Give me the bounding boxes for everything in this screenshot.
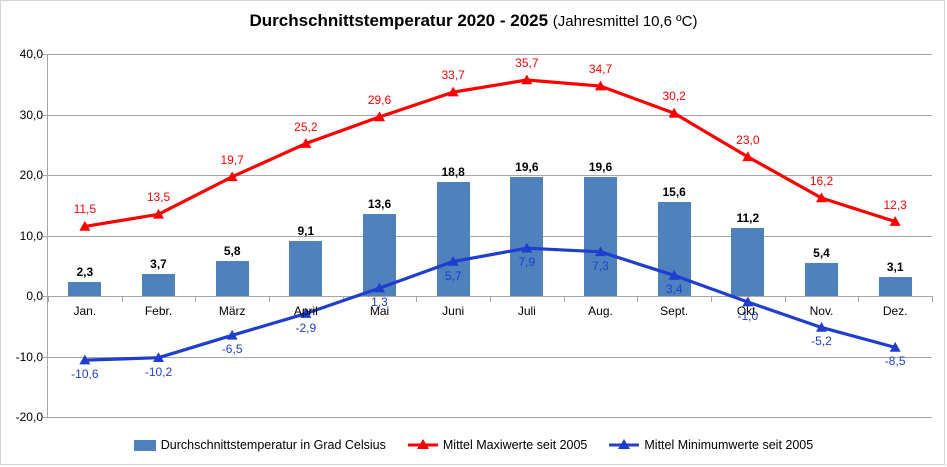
max-value-label: 23,0 — [736, 133, 759, 147]
max-value-label: 11,5 — [74, 202, 96, 216]
x-axis-label: März — [219, 304, 246, 318]
y-axis-tick-label: 20,0 — [1, 168, 43, 182]
x-axis-tick — [564, 296, 565, 302]
min-value-label: 5,7 — [445, 269, 462, 283]
x-axis-label: April — [294, 304, 318, 318]
x-axis-label: Okt. — [737, 304, 759, 318]
chart-title-main: Durchschnittstemperatur 2020 - 2025 — [250, 11, 549, 30]
legend-bar-swatch-icon — [134, 440, 156, 451]
x-axis-tick — [269, 296, 270, 302]
y-axis-tick — [43, 417, 48, 418]
triangle-marker-icon — [374, 111, 385, 121]
bar — [216, 261, 249, 296]
x-axis-tick — [343, 296, 344, 302]
y-axis-tick-label: 30,0 — [1, 108, 43, 122]
min-value-label: 3,4 — [666, 282, 683, 296]
max-value-label: 12,3 — [883, 198, 906, 212]
x-axis-label: Aug. — [588, 304, 613, 318]
bar — [879, 277, 912, 296]
min-value-label: -2,9 — [295, 321, 316, 335]
min-value-label: -6,5 — [222, 342, 243, 356]
x-axis-tick — [490, 296, 491, 302]
x-axis-tick — [932, 296, 933, 302]
triangle-marker-icon — [153, 209, 164, 219]
y-axis-tick — [43, 175, 48, 176]
max-value-label: 34,7 — [589, 62, 612, 76]
bar-value-label: 19,6 — [515, 160, 538, 174]
bar — [142, 274, 175, 296]
max-value-label: 33,7 — [441, 68, 464, 82]
y-axis-tick — [43, 357, 48, 358]
triangle-marker-icon — [890, 342, 901, 352]
y-axis-tick — [43, 115, 48, 116]
plot-area: 40,030,020,010,00,0-10,0-20,0 2,33,75,89… — [48, 54, 932, 417]
max-value-label: 30,2 — [662, 89, 685, 103]
bar-value-label: 19,6 — [589, 160, 612, 174]
bar — [731, 228, 764, 296]
legend-label: Mittel Minimumwerte seit 2005 — [644, 438, 813, 452]
x-axis-label: Juli — [518, 304, 536, 318]
legend-item[interactable]: Mittel Maxiwerte seit 2005 — [408, 438, 588, 452]
max-value-label: 25,2 — [294, 120, 317, 134]
max-value-label: 19,7 — [220, 153, 243, 167]
triangle-marker-icon — [890, 216, 901, 226]
max-value-label: 29,6 — [368, 93, 391, 107]
triangle-marker-icon — [595, 81, 606, 91]
bar-value-label: 15,6 — [662, 185, 685, 199]
gridline — [48, 417, 932, 418]
x-axis-label: Juni — [442, 304, 464, 318]
bar-value-label: 3,7 — [150, 257, 167, 271]
triangle-marker-icon — [300, 138, 311, 148]
gridline — [48, 54, 932, 55]
bar-value-label: 2,3 — [76, 265, 93, 279]
bar-value-label: 5,8 — [224, 244, 241, 258]
gridline — [48, 236, 932, 237]
x-axis-tick — [637, 296, 638, 302]
triangle-marker-icon — [79, 221, 90, 231]
min-value-label: -10,6 — [71, 367, 98, 381]
min-value-label: 7,9 — [518, 255, 535, 269]
legend-label: Durchschnittstemperatur in Grad Celsius — [161, 438, 386, 452]
triangle-marker-icon — [448, 87, 459, 97]
triangle-marker-icon — [227, 330, 238, 340]
x-axis-tick — [48, 296, 49, 302]
bar — [584, 177, 617, 296]
gridline — [48, 175, 932, 176]
triangle-marker-icon — [227, 171, 238, 181]
chart-title-subtitle: (Jahresmittel 10,6 ºC) — [553, 13, 698, 30]
y-axis-tick-label: -10,0 — [1, 350, 43, 364]
chart-legend: Durchschnittstemperatur in Grad CelsiusM… — [1, 438, 946, 452]
bar-value-label: 11,2 — [736, 211, 759, 225]
y-axis-tick-label: 40,0 — [1, 47, 43, 61]
chart-container: Durchschnittstemperatur 2020 - 2025 (Jah… — [0, 0, 945, 465]
bar — [510, 177, 543, 296]
legend-line-marker-icon — [408, 438, 438, 452]
x-axis-tick — [711, 296, 712, 302]
bar — [289, 241, 322, 296]
bar — [68, 282, 101, 296]
bar — [805, 263, 838, 296]
line-path — [85, 248, 895, 360]
y-axis-tick-label: -20,0 — [1, 410, 43, 424]
y-axis-tick-label: 10,0 — [1, 229, 43, 243]
x-axis-tick — [416, 296, 417, 302]
max-value-label: 35,7 — [515, 56, 538, 70]
x-axis-label: Mai — [370, 304, 389, 318]
max-value-label: 13,5 — [147, 190, 170, 204]
bar-value-label: 9,1 — [297, 224, 314, 238]
gridline — [48, 357, 932, 358]
legend-line-marker-icon — [609, 438, 639, 452]
x-axis-tick — [785, 296, 786, 302]
x-axis-tick — [122, 296, 123, 302]
legend-item[interactable]: Mittel Minimumwerte seit 2005 — [609, 438, 813, 452]
triangle-marker-icon — [521, 75, 532, 85]
y-axis-tick — [43, 54, 48, 55]
chart-title: Durchschnittstemperatur 2020 - 2025 (Jah… — [1, 11, 946, 31]
x-axis-label: Nov. — [810, 304, 834, 318]
x-axis-label: Jan. — [73, 304, 96, 318]
min-value-label: 7,3 — [592, 259, 609, 273]
triangle-marker-icon — [816, 192, 827, 202]
bar-value-label: 13,6 — [368, 197, 391, 211]
gridline — [48, 115, 932, 116]
x-axis-tick — [858, 296, 859, 302]
min-value-label: -8,5 — [885, 354, 906, 368]
legend-item[interactable]: Durchschnittstemperatur in Grad Celsius — [134, 438, 386, 452]
x-axis-label: Sept. — [660, 304, 688, 318]
bar — [363, 214, 396, 296]
bar-value-label: 3,1 — [887, 260, 904, 274]
y-axis-tick-label: 0,0 — [1, 289, 43, 303]
line-path — [85, 80, 895, 226]
bar-value-label: 18,8 — [441, 165, 464, 179]
legend-label: Mittel Maxiwerte seit 2005 — [443, 438, 588, 452]
triangle-marker-icon — [669, 108, 680, 118]
triangle-marker-icon — [742, 151, 753, 161]
x-axis-label: Febr. — [145, 304, 172, 318]
y-axis-tick — [43, 236, 48, 237]
triangle-marker-icon — [816, 322, 827, 332]
max-value-label: 16,2 — [810, 174, 833, 188]
min-value-label: -5,2 — [811, 334, 832, 348]
bar-value-label: 5,4 — [813, 246, 830, 260]
x-axis-tick — [195, 296, 196, 302]
min-value-label: -10,2 — [145, 365, 172, 379]
x-axis-label: Dez. — [883, 304, 908, 318]
